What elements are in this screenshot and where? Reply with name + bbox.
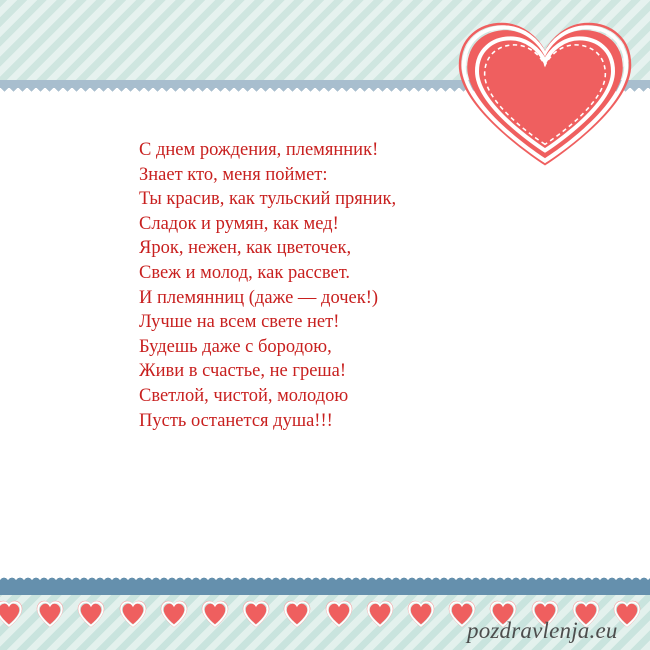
poem-line: Ты красив, как тульский пряник,: [139, 187, 599, 212]
watermark: pozdravlenja.eu: [467, 618, 618, 644]
heart-icon: [200, 600, 230, 628]
poem-line: Свеж и молод, как рассвет.: [139, 261, 599, 286]
poem-line: Знает кто, меня поймет:: [139, 163, 599, 188]
heart-icon: [365, 600, 395, 628]
poem-line: Сладок и румян, как мед!: [139, 212, 599, 237]
poem-line: Светлой, чистой, молодою: [139, 384, 599, 409]
heart-icon: [118, 600, 148, 628]
poem-line: Будешь даже с бородою,: [139, 335, 599, 360]
bottom-blue-band: [0, 581, 650, 595]
poem-line: Пусть останется душа!!!: [139, 409, 599, 434]
poem-line: Ярок, нежен, как цветочек,: [139, 236, 599, 261]
heart-icon: [0, 600, 24, 628]
heart-icon: [76, 600, 106, 628]
heart-icon: [241, 600, 271, 628]
poem-line: С днем рождения, племянник!: [139, 138, 599, 163]
poem-line: Лучше на всем свете нет!: [139, 310, 599, 335]
poem-text: С днем рождения, племянник! Знает кто, м…: [139, 138, 599, 433]
heart-icon: [159, 600, 189, 628]
greeting-card: С днем рождения, племянник! Знает кто, м…: [0, 0, 650, 650]
poem-line: Живи в счастье, не греша!: [139, 359, 599, 384]
poem-line: И племянниц (даже — дочек!): [139, 286, 599, 311]
heart-icon: [35, 600, 65, 628]
heart-icon: [282, 600, 312, 628]
heart-icon: [324, 600, 354, 628]
heart-icon: [406, 600, 436, 628]
